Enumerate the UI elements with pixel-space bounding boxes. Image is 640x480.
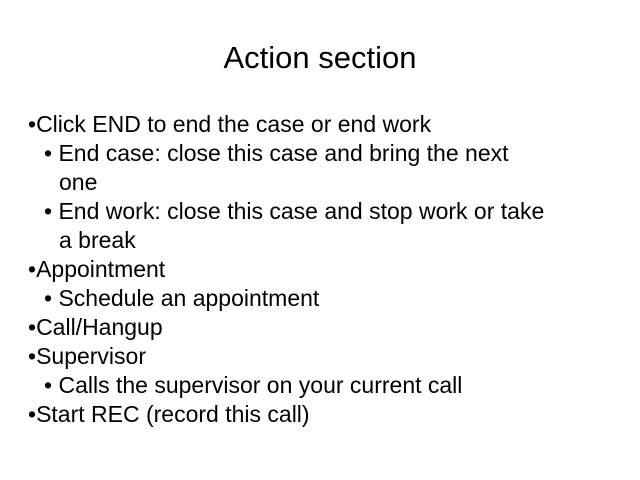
bullet-list: •Click END to end the case or end work• … bbox=[28, 110, 618, 429]
bullet-icon: • bbox=[44, 285, 58, 311]
list-item: •Supervisor bbox=[28, 342, 618, 371]
list-item: a break bbox=[28, 226, 618, 255]
list-item-label: Start REC (record this call) bbox=[36, 401, 310, 427]
list-item-label: Supervisor bbox=[36, 343, 146, 369]
list-item: •Start REC (record this call) bbox=[28, 400, 618, 429]
list-item: • Calls the supervisor on your current c… bbox=[28, 371, 618, 400]
list-item-label: Call/Hangup bbox=[36, 314, 163, 340]
bullet-icon: • bbox=[44, 372, 58, 398]
bullet-icon: • bbox=[28, 401, 36, 427]
bullet-icon: • bbox=[44, 140, 58, 166]
list-item-label: End work: close this case and stop work … bbox=[58, 198, 544, 224]
presentation-slide: Action section •Click END to end the cas… bbox=[0, 0, 640, 480]
list-item: •Click END to end the case or end work bbox=[28, 110, 618, 139]
page-title: Action section bbox=[0, 40, 640, 76]
list-item: •Call/Hangup bbox=[28, 313, 618, 342]
list-item-label: Click END to end the case or end work bbox=[36, 111, 431, 137]
list-item-label: Appointment bbox=[36, 256, 165, 282]
list-item: • End work: close this case and stop wor… bbox=[28, 197, 618, 226]
list-item-label: Calls the supervisor on your current cal… bbox=[58, 372, 462, 398]
list-item-label: Schedule an appointment bbox=[58, 285, 319, 311]
list-item: •Appointment bbox=[28, 255, 618, 284]
bullet-icon: • bbox=[44, 198, 58, 224]
bullet-icon: • bbox=[28, 256, 36, 282]
bullet-icon: • bbox=[28, 343, 36, 369]
list-item-label: a break bbox=[59, 227, 136, 253]
list-item: • Schedule an appointment bbox=[28, 284, 618, 313]
bullet-icon: • bbox=[28, 314, 36, 340]
list-item-label: End case: close this case and bring the … bbox=[58, 140, 508, 166]
bullet-icon: • bbox=[28, 111, 36, 137]
list-item: • End case: close this case and bring th… bbox=[28, 139, 618, 168]
list-item: one bbox=[28, 168, 618, 197]
list-item-label: one bbox=[59, 169, 97, 195]
